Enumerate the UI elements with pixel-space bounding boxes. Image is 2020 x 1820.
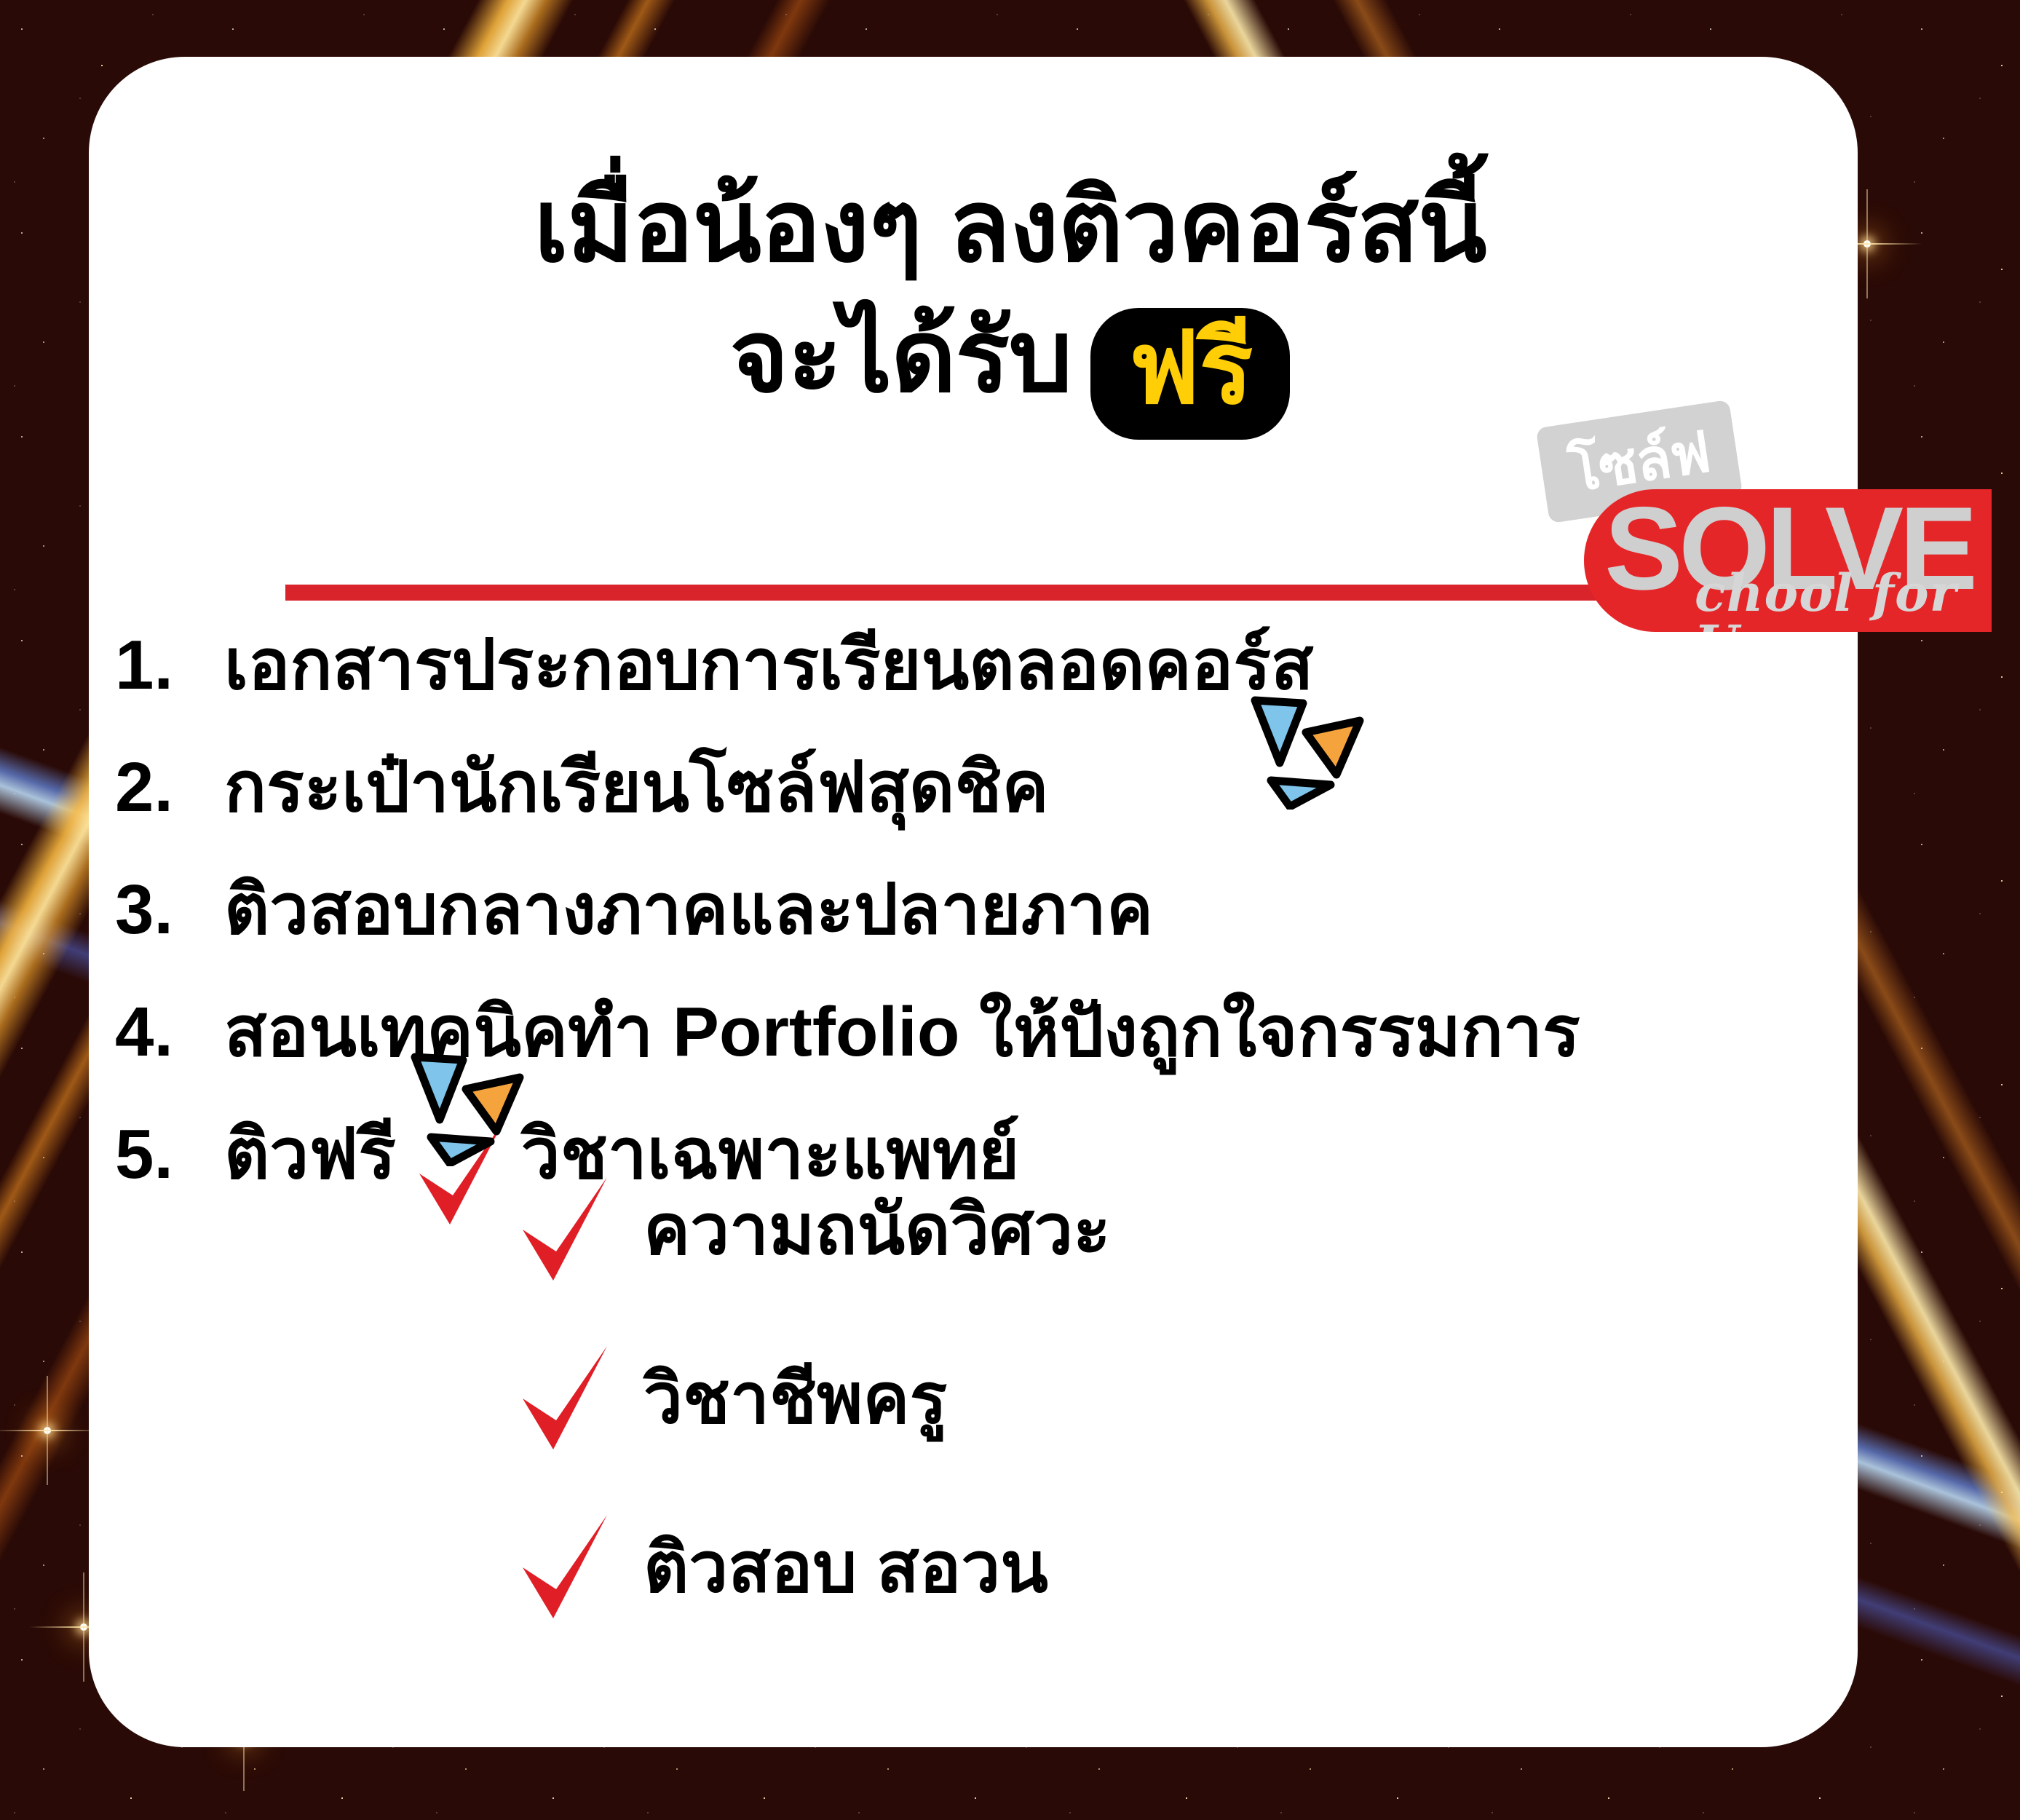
free-badge: ฟรี [1090,308,1290,440]
list-item-number: 4. [115,997,224,1067]
list-item-number: 3. [115,875,224,945]
sparkle-icon [1249,693,1387,810]
list-item: 2. กระเป๋านักเรียนโซล์ฟสุดชิค [115,753,1797,823]
page-title: เมื่อน้องๆ ลงติวคอร์สนี้ จะได้รับฟรี [0,162,2020,440]
check-icon [518,1345,611,1454]
check-icon [518,1514,611,1623]
check-icon [518,1176,611,1285]
list-item-label: ติวฟรี [224,1120,396,1190]
logo-tagline-script: chool for U [1695,568,1992,632]
poster-canvas: เมื่อน้องๆ ลงติวคอร์สนี้ จะได้รับฟรี โซล… [0,0,2020,1820]
list-item: ความถนัดวิศวะ [518,1176,1111,1285]
list-item: ติวสอบ สอวน [518,1514,1111,1623]
brand-logo[interactable]: โซล์ฟ SOLVE chool for U [1529,414,1995,654]
list-item-label: กระเป๋านักเรียนโซล์ฟสุดชิค [224,753,1049,823]
list-item-label: สอนเทคนิคทำ Portfolio ให้ปังถูกใจกรรมการ [224,997,1580,1067]
free-subject-label: วิชาชีพครู [643,1364,947,1434]
list-item: 4. สอนเทคนิคทำ Portfolio ให้ปังถูกใจกรรม… [115,997,1797,1067]
list-item: 3. ติวสอบกลางภาคและปลายภาค [115,875,1797,945]
list-item-number: 1. [115,630,224,700]
free-subjects-list: ความถนัดวิศวะ วิชาชีพครู ติวสอบ สอวน [518,1176,1111,1682]
list-item-number: 5. [115,1120,224,1190]
logo-pill: SOLVE chool for U [1584,489,1992,632]
check-icon [415,1120,508,1241]
star-glow-icon [44,1427,51,1434]
headline-line-2-prefix: จะได้รับ [730,301,1072,413]
title-divider [285,585,1661,601]
free-subject-label: ติวสอบ สอวน [643,1533,1048,1603]
list-item-label: เอกสารประกอบการเรียนตลอดคอร์ส [224,630,1313,700]
headline-line-1: เมื่อน้องๆ ลงติวคอร์สนี้ [534,170,1486,282]
free-subject-label: ความถนัดวิศวะ [643,1195,1111,1265]
star-glow-icon [80,1623,87,1631]
list-item-label: ติวสอบกลางภาคและปลายภาค [224,875,1153,945]
list-item-number: 2. [115,753,224,823]
list-item: วิชาชีพครู [518,1345,1111,1454]
list-item: 1. เอกสารประกอบการเรียนตลอดคอร์ส [115,630,1797,700]
